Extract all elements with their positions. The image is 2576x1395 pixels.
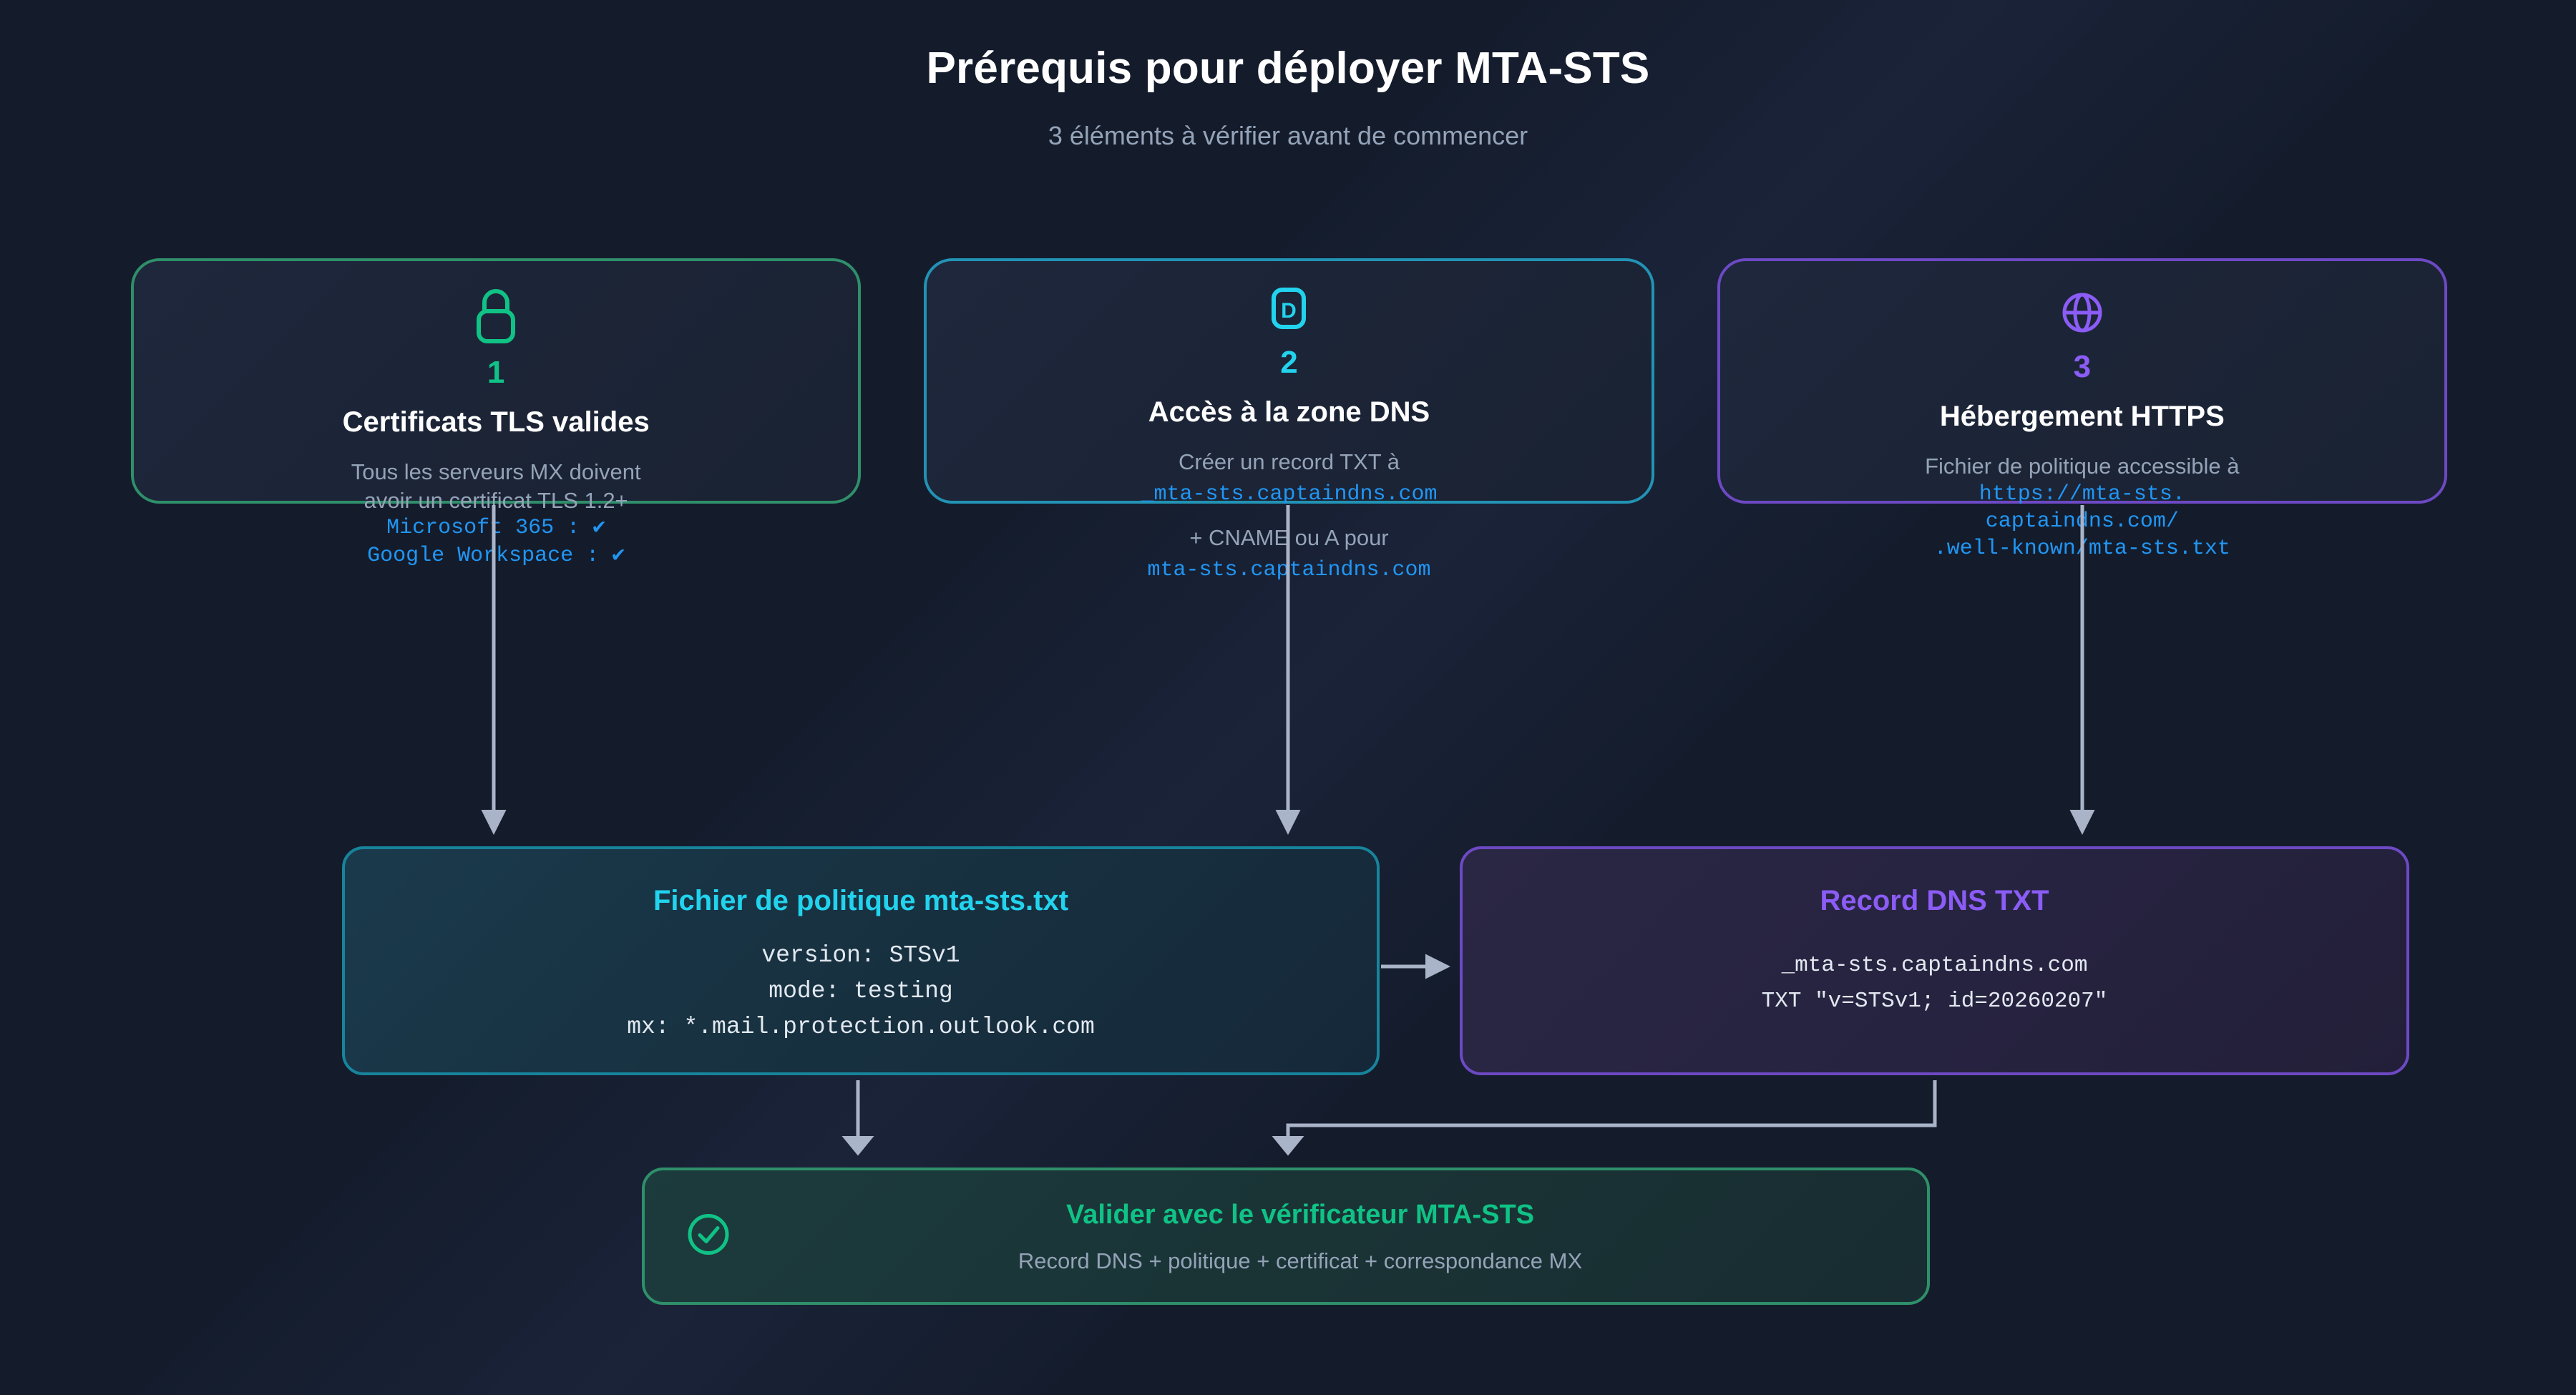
policy-box-content: version: STSv1 mode: testing mx: *.mail.… [627, 938, 1095, 1045]
policy-line: mode: testing [627, 974, 1095, 1009]
policy-box-title: Fichier de politique mta-sts.txt [653, 886, 1068, 915]
validate-box-subtitle: Record DNS + politique + certificat + co… [673, 1250, 1927, 1272]
card-number: 1 [487, 357, 504, 388]
check-circle-icon [686, 1213, 731, 1261]
policy-line: mx: *.mail.protection.outlook.com [627, 1009, 1095, 1045]
dns-box-content: _mta-sts.captaindns.com TXT "v=STSv1; id… [1762, 948, 2108, 1019]
card-desc-line: Fichier de politique accessible à [1925, 452, 2239, 481]
card-title: Hébergement HTTPS [1940, 402, 2225, 431]
page-subtitle: 3 éléments à vérifier avant de commencer [0, 121, 2576, 151]
card-mono-line: .well-known/mta-sts.txt [1934, 535, 2230, 562]
header: Prérequis pour déployer MTA-STS 3 élémen… [0, 43, 2576, 151]
dns-d-icon: D [1266, 285, 1312, 336]
card-mono-line: https://mta-sts. [1934, 481, 2230, 508]
policy-file-box: Fichier de politique mta-sts.txt version… [342, 846, 1380, 1075]
card-mono-line: captaindns.com/ [1934, 508, 2230, 535]
card-mono-line: mta-sts.captaindns.com [1147, 557, 1430, 584]
card-mono-block: _mta-sts.captaindns.com [1141, 481, 1437, 508]
card-description-secondary: + CNAME ou A pour [1189, 524, 1388, 552]
card-desc-line: + CNAME ou A pour [1189, 524, 1388, 552]
infographic-canvas: Prérequis pour déployer MTA-STS 3 élémen… [0, 0, 2576, 1395]
svg-text:D: D [1282, 299, 1297, 323]
validate-box-title: Valider avec le vérificateur MTA-STS [673, 1201, 1927, 1228]
card-desc-line: avoir un certificat TLS 1.2+ [351, 486, 641, 515]
validate-box: Valider avec le vérificateur MTA-STS Rec… [642, 1168, 1930, 1305]
prerequisite-cards: 1 Certificats TLS valides Tous les serve… [131, 258, 2447, 504]
card-title: Certificats TLS valides [343, 408, 650, 436]
card-number: 3 [2074, 351, 2091, 383]
card-description: Fichier de politique accessible à [1925, 452, 2239, 481]
card-acces-zone-dns: D 2 Accès à la zone DNS Créer un record … [924, 258, 1654, 504]
dns-box-title: Record DNS TXT [1820, 886, 2049, 915]
card-mono-block: Microsoft 365 : ✔ Google Workspace : ✔ [367, 514, 625, 569]
card-description: Créer un record TXT à [1179, 448, 1400, 476]
page-title: Prérequis pour déployer MTA-STS [0, 43, 2576, 94]
card-title: Accès à la zone DNS [1148, 398, 1430, 426]
card-desc-line: Créer un record TXT à [1179, 448, 1400, 476]
card-mono-block: https://mta-sts. captaindns.com/ .well-k… [1934, 481, 2230, 563]
policy-line: version: STSv1 [627, 938, 1095, 974]
card-desc-line: Tous les serveurs MX doivent [351, 458, 641, 486]
card-mono-line: Google Workspace : ✔ [367, 542, 625, 569]
globe-icon [2057, 285, 2107, 340]
dns-line: TXT "v=STSv1; id=20260207" [1762, 984, 2108, 1019]
card-mono-line: Microsoft 365 : ✔ [367, 514, 625, 542]
dns-txt-record-box: Record DNS TXT _mta-sts.captaindns.com T… [1460, 846, 2409, 1075]
card-number: 2 [1280, 347, 1297, 378]
card-certificats-tls: 1 Certificats TLS valides Tous les serve… [131, 258, 861, 504]
card-description: Tous les serveurs MX doivent avoir un ce… [351, 458, 641, 514]
card-hebergement-https: 3 Hébergement HTTPS Fichier de politique… [1717, 258, 2447, 504]
validate-box-text: Valider avec le vérificateur MTA-STS Rec… [645, 1201, 1927, 1272]
card-mono-block-secondary: mta-sts.captaindns.com [1147, 557, 1430, 584]
lock-icon [470, 285, 522, 346]
card-mono-line: _mta-sts.captaindns.com [1141, 481, 1437, 508]
dns-line: _mta-sts.captaindns.com [1762, 948, 2108, 984]
